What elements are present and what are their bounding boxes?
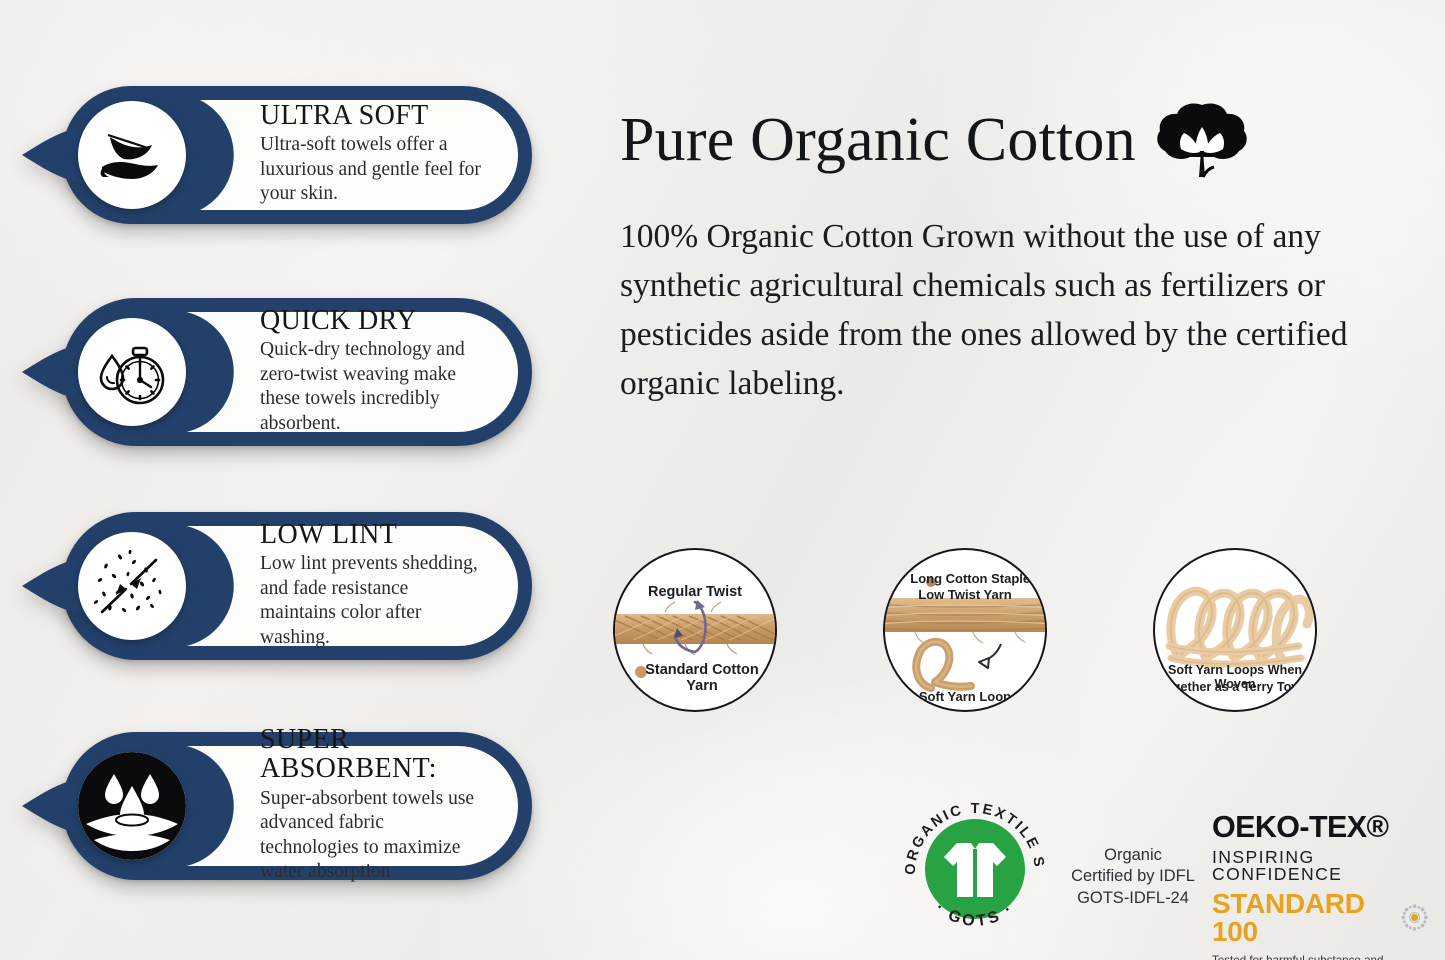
lint-particles-icon [78,532,186,640]
idfl-line-1: Organic [1058,845,1208,866]
feature-badge-low-lint[interactable]: LOW LINT Low lint prevents shedding, and… [62,512,532,660]
badge-title: LOW LINT [260,520,484,549]
badge-description: Super-absorbent towels use advanced fabr… [260,787,484,885]
oekotex-brand: OEKO-TEX® [1212,812,1428,843]
cotton-boll-icon [1154,99,1250,181]
badge-description: Ultra-soft towels offer a luxurious and … [260,133,484,207]
badge-shell: SUPER ABSORBENT: Super-absorbent towels … [62,732,532,880]
idfl-certification-text: Organic Certified by IDFL GOTS-IDFL-24 [1058,845,1208,909]
infographic-canvas: ULTRA SOFT Ultra-soft towels offer a lux… [0,0,1445,960]
badge-text-panel: LOW LINT Low lint prevents shedding, and… [174,526,518,646]
badge-text-panel: QUICK DRY Quick-dry technology and zero-… [174,312,518,432]
yarn-bottom-label-line2: Together as a Terry Towel [1155,680,1315,694]
feather-in-hand-icon [78,101,186,209]
badge-description: Low lint prevents shedding, and fade res… [260,552,484,650]
yarn-top-label-line1: Long Cotton Staple, [885,571,1045,586]
oekotex-fine-line-1: Tested for harmful substance and produce… [1212,953,1428,960]
yarn-bottom-label: Soft Yarn Loop [885,689,1045,704]
feature-badge-ultra-soft[interactable]: ULTRA SOFT Ultra-soft towels offer a lux… [62,86,532,224]
badge-shell: QUICK DRY Quick-dry technology and zero-… [62,298,532,446]
oekotex-certification-block: OEKO-TEX® INSPIRING CONFIDENCE STANDARD … [1212,812,1428,960]
oekotex-standard: STANDARD 100 [1212,890,1393,946]
badge-shell: ULTRA SOFT Ultra-soft towels offer a lux… [62,86,532,224]
yarn-top-label-line2: Low Twist Yarn [885,587,1045,602]
badge-title: QUICK DRY [260,306,484,335]
badge-title: ULTRA SOFT [260,101,484,130]
yarn-diagram-terry-loops: Soft Yarn Loops When Woven Together as a… [1153,548,1317,712]
page-title: Pure Organic Cotton [620,109,1136,171]
gots-certification-logo: GLOBAL ORGANIC TEXTILE STANDARD · GOTS · [897,787,1053,947]
headline: Pure Organic Cotton [620,100,1410,180]
made-in-green-starburst-icon [1401,902,1428,933]
water-absorption-icon [78,752,186,860]
badge-text-panel: SUPER ABSORBENT: Super-absorbent towels … [174,746,518,866]
badge-text-panel: ULTRA SOFT Ultra-soft towels offer a lux… [174,100,518,210]
oekotex-standard-row: STANDARD 100 [1212,890,1428,946]
badge-title: SUPER ABSORBENT: [260,725,484,784]
yarn-diagram-low-twist: Long Cotton Staple, Low Twist Yarn Soft … [883,548,1047,712]
stopwatch-droplet-icon [78,318,186,426]
idfl-line-2: Certified by IDFL [1058,866,1208,887]
badge-description: Quick-dry technology and zero-twist weav… [260,338,484,436]
badge-shell: LOW LINT Low lint prevents shedding, and… [62,512,532,660]
feature-badge-super-absorbent[interactable]: SUPER ABSORBENT: Super-absorbent towels … [62,732,532,880]
yarn-bottom-label: Standard Cotton Yarn [615,662,775,694]
idfl-line-3: GOTS-IDFL-24 [1058,888,1208,909]
yarn-top-label: Regular Twist [615,584,775,600]
body-paragraph: 100% Organic Cotton Grown without the us… [620,213,1420,409]
oekotex-tagline: INSPIRING CONFIDENCE [1212,849,1428,884]
yarn-diagram-regular-twist: Regular Twist Standard Cotton Yarn [613,548,777,712]
oekotex-fine-print: Tested for harmful substance and produce… [1212,953,1428,960]
feature-badge-quick-dry[interactable]: QUICK DRY Quick-dry technology and zero-… [62,298,532,446]
